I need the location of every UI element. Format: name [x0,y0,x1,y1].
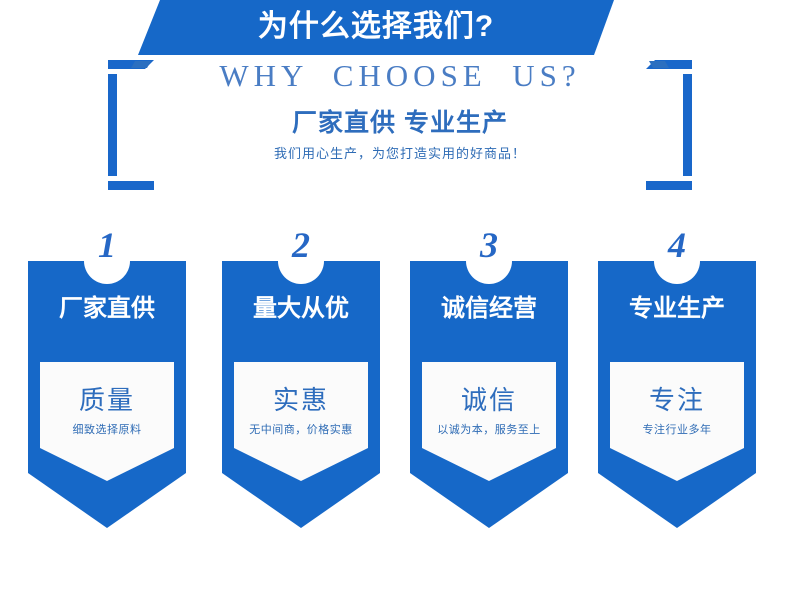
header-banner-shape: 为什么选择我们? [138,0,614,55]
bracket-bottom-bar [108,181,154,190]
card-description: 无中间商，价格实惠 [234,421,368,437]
card-keyword: 质量 [40,380,174,417]
card-heading: 厂家直供 [28,288,186,323]
card-number: 1 [28,226,186,264]
header-english-title: WHY CHOOSE US? [0,58,800,94]
header-chinese-tagline: 厂家直供 专业生产 [0,103,800,139]
bracket-corner-bottom [683,165,692,176]
card-heading: 量大从优 [222,288,380,323]
feature-card-4[interactable]: 4 专业生产 专注 专注行业多年 [598,228,756,538]
card-number: 4 [598,226,756,264]
feature-card-1[interactable]: 1 厂家直供 质量 细致选择原料 [28,228,186,538]
feature-card-3[interactable]: 3 诚信经营 诚信 以诚为本，服务至上 [410,228,568,538]
card-heading: 专业生产 [598,288,756,323]
card-keyword: 实惠 [234,380,368,417]
card-heading: 诚信经营 [410,288,568,323]
feature-cards-row: 1 厂家直供 质量 细致选择原料 2 量大从优 实惠 无中间商，价格实惠 3 诚… [0,228,800,538]
card-description: 以诚为本，服务至上 [422,421,556,437]
header-section: 为什么选择我们? WHY CHOOSE US? 厂家直供 专业生产 我们用心生产… [0,0,800,200]
card-keyword: 专注 [610,380,744,417]
bracket-bottom-bar [646,181,692,190]
banner-title: 为什么选择我们? [138,0,614,55]
card-description: 专注行业多年 [610,421,744,437]
card-number: 2 [222,226,380,264]
header-subtitle: 我们用心生产，为您打造实用的好商品！ [0,143,800,162]
card-number: 3 [410,226,568,264]
card-keyword: 诚信 [422,380,556,417]
feature-card-2[interactable]: 2 量大从优 实惠 无中间商，价格实惠 [222,228,380,538]
card-description: 细致选择原料 [40,421,174,437]
promo-banner-page: 为什么选择我们? WHY CHOOSE US? 厂家直供 专业生产 我们用心生产… [0,0,800,596]
bracket-corner-bottom [108,165,117,176]
